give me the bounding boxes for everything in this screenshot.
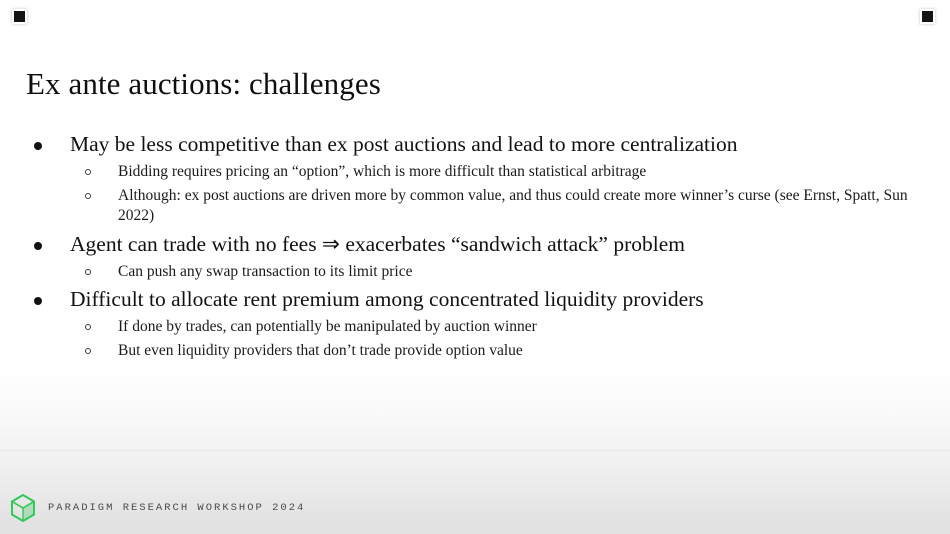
sub-bullet-circle-icon (85, 348, 91, 354)
bullet-level2: Although: ex post auctions are driven mo… (0, 186, 928, 227)
bullet-level1-text: May be less competitive than ex post auc… (70, 132, 738, 156)
bullet-level2-text: But even liquidity providers that don’t … (118, 342, 523, 359)
sub-bullet-circle-icon (85, 324, 91, 330)
bullet-level2-text: Can push any swap transaction to its lim… (118, 263, 412, 280)
bullet-level2-text: Bidding requires pricing an “option”, wh… (118, 163, 646, 180)
bullet-list: May be less competitive than ex post auc… (0, 131, 930, 365)
bullet-level1: May be less competitive than ex post auc… (0, 131, 930, 159)
slide-footer: PARADIGM RESEARCH WORKSHOP 2024 (10, 494, 305, 522)
sub-bullet-circle-icon (85, 193, 91, 199)
bullet-group: Agent can trade with no fees ⇒ exacerbat… (0, 231, 930, 283)
slide-content: Ex ante auctions: challenges May be less… (0, 0, 950, 534)
slide-title: Ex ante auctions: challenges (26, 66, 381, 102)
bullet-dot-icon (34, 297, 42, 305)
sub-bullet-circle-icon (85, 169, 91, 175)
bullet-level2: If done by trades, can potentially be ma… (0, 317, 928, 338)
bullet-level2: Bidding requires pricing an “option”, wh… (0, 162, 928, 183)
bullet-level1: Difficult to allocate rent premium among… (0, 286, 930, 314)
bullet-level2: But even liquidity providers that don’t … (0, 341, 928, 362)
footer-divider (0, 450, 950, 451)
bullet-level1-text: Difficult to allocate rent premium among… (70, 287, 704, 311)
presentation-slide: Ex ante auctions: challenges May be less… (0, 0, 950, 534)
bullet-level2-text: Although: ex post auctions are driven mo… (118, 187, 908, 225)
footer-label: PARADIGM RESEARCH WORKSHOP 2024 (48, 502, 305, 514)
sub-bullet-circle-icon (85, 269, 91, 275)
bullet-dot-icon (34, 142, 42, 150)
bullet-level2-text: If done by trades, can potentially be ma… (118, 318, 537, 335)
bullet-level1-text: Agent can trade with no fees ⇒ exacerbat… (70, 232, 685, 256)
bullet-level1: Agent can trade with no fees ⇒ exacerbat… (0, 231, 930, 259)
bullet-group: May be less competitive than ex post auc… (0, 131, 930, 227)
bullet-level2: Can push any swap transaction to its lim… (0, 262, 928, 283)
paradigm-cube-logo-icon (10, 494, 36, 522)
bullet-dot-icon (34, 242, 42, 250)
bullet-group: Difficult to allocate rent premium among… (0, 286, 930, 361)
